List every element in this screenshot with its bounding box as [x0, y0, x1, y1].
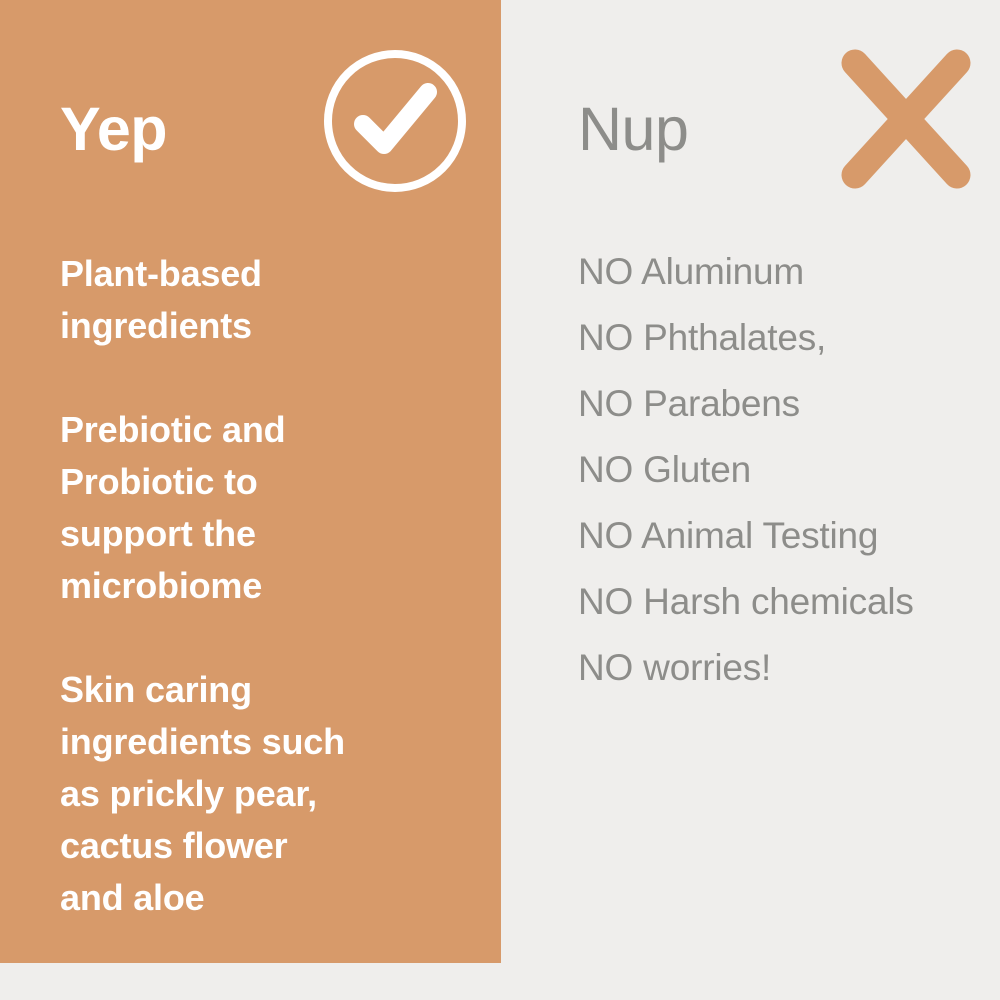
list-item: NO Harsh chemicals	[578, 569, 988, 635]
list-item: NO Parabens	[578, 371, 988, 437]
list-item: Plant-based ingredients	[60, 248, 470, 352]
list-item: Prebiotic and Probiotic to support the m…	[60, 404, 470, 612]
list-item: Skin caring ingredients such as prickly …	[60, 664, 470, 924]
yep-panel-header: Yep	[0, 0, 501, 200]
nup-panel-title: Nup	[578, 99, 688, 160]
list-item: NO worries!	[578, 635, 988, 701]
circled-check-icon	[322, 48, 468, 194]
list-item: NO Aluminum	[578, 239, 988, 305]
comparison-board: Yep Plant-based ingredients Prebiotic an…	[0, 0, 1000, 1000]
list-item: NO Animal Testing	[578, 503, 988, 569]
yep-benefit-list: Plant-based ingredients Prebiotic and Pr…	[60, 248, 470, 924]
yep-panel-title: Yep	[60, 99, 167, 160]
nup-exclusion-list: NO Aluminum NO Phthalates, NO Parabens N…	[578, 239, 988, 701]
nup-panel: Nup NO Aluminum NO Phthalates, NO Parabe…	[501, 0, 1000, 1000]
nup-panel-header: Nup	[501, 0, 1000, 200]
list-item: NO Phthalates,	[578, 305, 988, 371]
cross-icon	[833, 48, 979, 194]
list-item: NO Gluten	[578, 437, 988, 503]
yep-panel: Yep Plant-based ingredients Prebiotic an…	[0, 0, 501, 963]
